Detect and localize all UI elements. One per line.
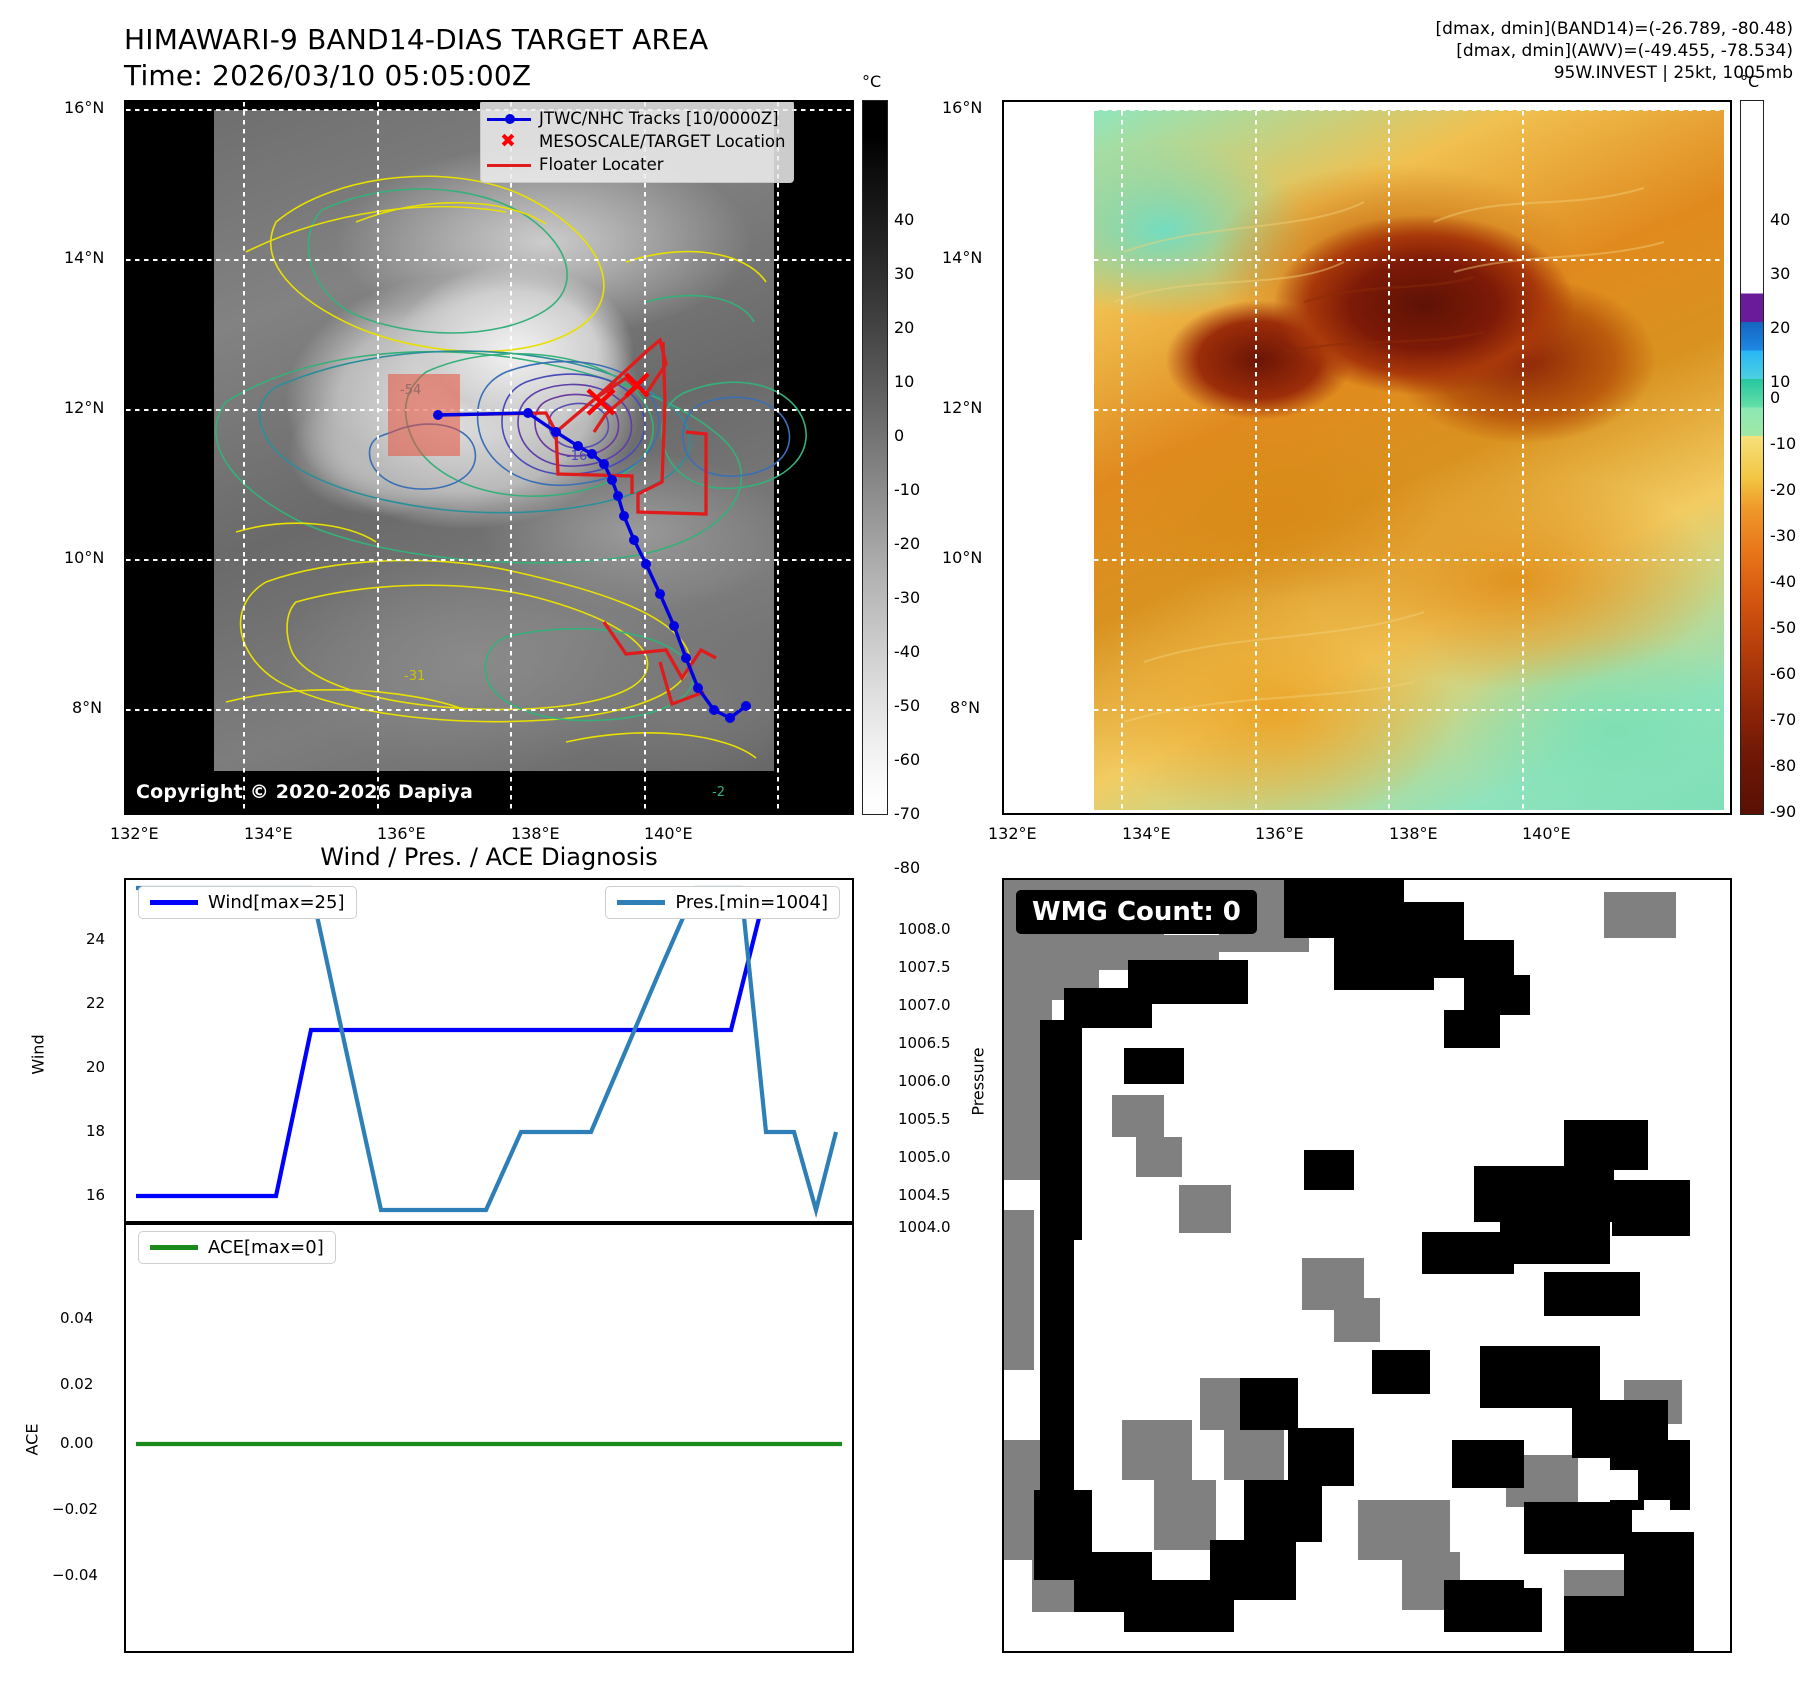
ir-tick-30: 30 (894, 264, 914, 283)
ace-legend: ACE[max=0] (138, 1231, 336, 1264)
pressure-series-line (136, 888, 836, 1210)
awv-image (1004, 102, 1730, 813)
ace-chart[interactable]: ACE[max=0] (124, 1223, 854, 1653)
ace-legend-label: ACE[max=0] (208, 1237, 324, 1258)
pres-ytick-1008: 1008.0 (898, 920, 951, 938)
pres-ytick-10075: 1007.5 (898, 958, 951, 976)
awv-xtick-140e: 140°E (1522, 824, 1571, 843)
awv-ytick-12n: 12°N (942, 398, 982, 417)
dmax-dmin-awv: [dmax, dmin](AWV)=(-49.455, -78.534) (1436, 40, 1793, 62)
ace-ytick-004: 0.04 (60, 1309, 93, 1327)
awv-xtick-138e: 138°E (1389, 824, 1438, 843)
legend-label-mesoscale: MESOSCALE/TARGET Location (539, 130, 785, 153)
wind-ytick-22: 22 (86, 994, 105, 1012)
legend-label-floater: Floater Locater (539, 153, 664, 176)
ir-image: -54 -16 -31 -2 (126, 102, 852, 813)
wind-series-line (136, 890, 826, 1196)
pres-ytick-10045: 1004.5 (898, 1186, 951, 1204)
ir-tick-m10: -10 (894, 480, 920, 499)
pres-ytick-1006: 1006.0 (898, 1072, 951, 1090)
pressure-axis-title: Pressure (969, 1047, 988, 1115)
ir-ytick-12n: 12°N (64, 398, 104, 417)
pres-ytick-1007: 1007.0 (898, 996, 951, 1014)
ir-tick-m50: -50 (894, 696, 920, 715)
ir-tick-m20: -20 (894, 534, 920, 553)
dmax-dmin-band14: [dmax, dmin](BAND14)=(-26.789, -80.48) (1436, 18, 1793, 40)
ir-tick-10: 10 (894, 372, 914, 391)
ir-legend: JTWC/NHC Tracks [10/0000Z] ✖ MESOSCALE/T… (480, 100, 794, 183)
wind-legend-swatch (150, 900, 198, 905)
ir-satellite-panel[interactable]: -54 -16 -31 -2 (124, 100, 854, 815)
ir-xtick-134e: 134°E (244, 824, 293, 843)
awv-tick-40: 40 (1770, 210, 1790, 229)
legend-item-floater: Floater Locater (487, 153, 785, 176)
ir-xtick-132e: 132°E (110, 824, 159, 843)
ace-axis-title: ACE (22, 1424, 41, 1456)
ir-ytick-16n: 16°N (64, 98, 104, 117)
awv-tick-m70: -70 (1770, 710, 1796, 729)
copyright-notice: Copyright © 2020-2026 Dapiya (136, 781, 473, 803)
ir-ytick-14n: 14°N (64, 248, 104, 267)
legend-item-mesoscale: ✖ MESOSCALE/TARGET Location (487, 130, 785, 153)
pres-ytick-10055: 1005.5 (898, 1110, 951, 1128)
awv-xtick-132e: 132°E (988, 824, 1037, 843)
awv-ytick-16n: 16°N (942, 98, 982, 117)
ir-tick-40: 40 (894, 210, 914, 229)
wind-legend: Wind[max=25] (138, 886, 357, 919)
awv-colorbar-unit: °C (1740, 72, 1759, 91)
pres-ytick-1005: 1005.0 (898, 1148, 951, 1166)
awv-tick-m50: -50 (1770, 618, 1796, 637)
jtwc-nhc-track (126, 102, 854, 815)
ace-ytick-m004: −0.04 (52, 1566, 98, 1584)
wind-axis-title: Wind (29, 1034, 48, 1074)
ir-colorbar: °C 40 30 20 10 0 -10 -20 -30 -40 -50 -60… (862, 100, 922, 815)
awv-tick-m40: -40 (1770, 572, 1796, 591)
legend-label-tracks: JTWC/NHC Tracks [10/0000Z] (539, 107, 779, 130)
awv-xtick-134e: 134°E (1122, 824, 1171, 843)
wind-pressure-plot (126, 880, 852, 1221)
ir-tick-m40: -40 (894, 642, 920, 661)
track-line-dot-icon (487, 112, 531, 126)
awv-tick-30: 30 (1770, 264, 1790, 283)
awv-tick-m30: -30 (1770, 526, 1796, 545)
awv-tick-0: 0 (1770, 388, 1780, 407)
awv-tick-m10: -10 (1770, 434, 1796, 453)
pressure-legend-label: Pres.[min=1004] (675, 892, 828, 913)
ir-tick-20: 20 (894, 318, 914, 337)
ace-ytick-m002: −0.02 (52, 1500, 98, 1518)
ir-tick-m70: -70 (894, 804, 920, 823)
ir-colorbar-gradient (862, 100, 888, 815)
pressure-legend-swatch (617, 900, 665, 905)
pressure-legend: Pres.[min=1004] (605, 886, 840, 919)
awv-tick-m20: -20 (1770, 480, 1796, 499)
ace-ytick-002: 0.02 (60, 1375, 93, 1393)
ir-tick-0: 0 (894, 426, 904, 445)
awv-tick-m90: -90 (1770, 802, 1796, 821)
awv-xtick-136e: 136°E (1255, 824, 1304, 843)
ir-ytick-8n: 8°N (72, 698, 102, 717)
page-title: HIMAWARI-9 BAND14-DIAS TARGET AREA Time:… (124, 22, 708, 94)
title-line-1: HIMAWARI-9 BAND14-DIAS TARGET AREA (124, 22, 708, 58)
ir-colorbar-unit: °C (862, 72, 881, 91)
ir-tick-m30: -30 (894, 588, 920, 607)
wmg-count-badge: WMG Count: 0 (1016, 890, 1257, 934)
wind-legend-label: Wind[max=25] (208, 892, 345, 913)
awv-tick-20: 20 (1770, 318, 1790, 337)
awv-tick-m80: -80 (1770, 756, 1796, 775)
ir-tick-m60: -60 (894, 750, 920, 769)
ace-plot (126, 1225, 852, 1651)
ir-ytick-10n: 10°N (64, 548, 104, 567)
wind-ytick-16: 16 (86, 1186, 105, 1204)
awv-colorbar-gradient (1740, 100, 1764, 815)
awv-tick-m60: -60 (1770, 664, 1796, 683)
ir-xtick-138e: 138°E (511, 824, 560, 843)
awv-ytick-8n: 8°N (950, 698, 980, 717)
title-line-2: Time: 2026/03/10 05:05:00Z (124, 58, 708, 94)
ace-legend-swatch (150, 1245, 198, 1250)
wmg-panel[interactable]: WMG Count: 0 (1002, 878, 1732, 1653)
ir-xtick-136e: 136°E (377, 824, 426, 843)
wind-ytick-20: 20 (86, 1058, 105, 1076)
wmg-mask-image (1004, 880, 1730, 1651)
pres-ytick-1004: 1004.0 (898, 1218, 951, 1236)
awv-ytick-10n: 10°N (942, 548, 982, 567)
floater-line-icon (487, 158, 531, 172)
awv-ytick-14n: 14°N (942, 248, 982, 267)
legend-item-tracks: JTWC/NHC Tracks [10/0000Z] (487, 107, 785, 130)
ir-tick-m80: -80 (894, 858, 920, 877)
pres-ytick-10065: 1006.5 (898, 1034, 951, 1052)
wind-ytick-18: 18 (86, 1122, 105, 1140)
wind-ytick-24: 24 (86, 930, 105, 948)
wind-pressure-chart[interactable]: Wind[max=25] Pres.[min=1004] (124, 878, 854, 1223)
ace-ytick-000: 0.00 (60, 1434, 93, 1452)
x-cross-icon: ✖ (487, 135, 531, 149)
awv-satellite-panel[interactable] (1002, 100, 1732, 815)
awv-colorbar: °C 40 30 20 10 0 -10 -20 -30 -40 -50 -60… (1740, 100, 1804, 815)
ir-xtick-140e: 140°E (644, 824, 693, 843)
diagnosis-title: Wind / Pres. / ACE Diagnosis (124, 843, 854, 871)
